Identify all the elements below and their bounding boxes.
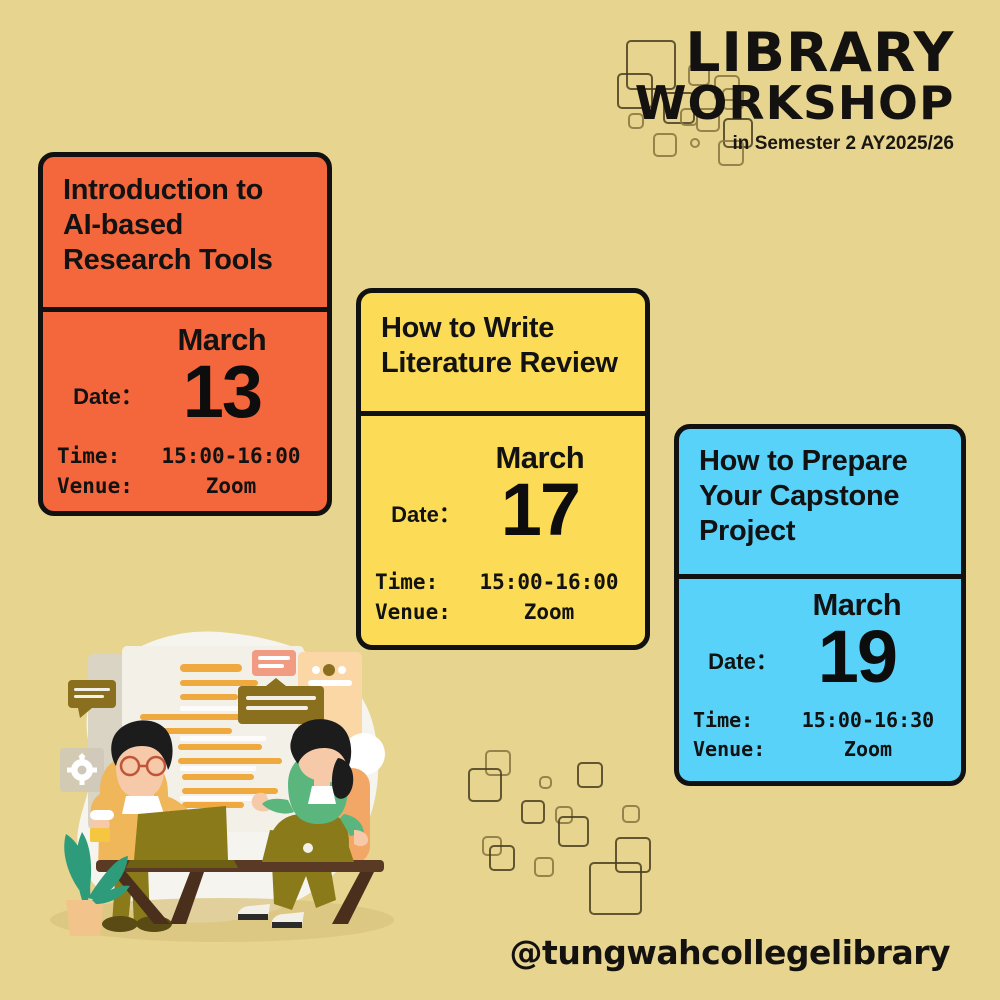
workshop-details: Date： March 13 Time: 15:00-16:00 Venue: … [43, 312, 327, 512]
collaboration-illustration [30, 618, 410, 958]
decor-square [489, 845, 515, 871]
brand-title-line1: LIBRARY [634, 28, 954, 78]
workshop-details: Date： March 17 Time: 15:00-16:00 Venue: … [361, 416, 645, 645]
workshop-details: Date： March 19 Time: 15:00-16:30 Venue: … [679, 579, 961, 781]
time-label: Time: [693, 706, 789, 735]
time-value: 15:00-16:30 [789, 706, 947, 735]
poster-canvas: LIBRARY WORKSHOP in Semester 2 AY2025/26… [0, 0, 1000, 1000]
workshop-title: Introduction to AI-based Research Tools [43, 157, 327, 312]
day-value: 13 [147, 357, 297, 427]
social-handle: @tungwahcollegelibrary [510, 933, 950, 972]
date-value: March 19 [782, 589, 932, 692]
decor-square [521, 800, 545, 824]
date-row: Date： March 19 [693, 589, 947, 692]
venue-value: Zoom [467, 597, 631, 627]
date-row: Date： March 13 [57, 324, 313, 427]
venue-label: Venue: [693, 735, 789, 764]
decor-square [539, 776, 552, 789]
time-label: Time: [57, 441, 149, 471]
decor-square [534, 857, 554, 877]
decor-square [622, 805, 640, 823]
brand-title-line2: WORKSHOP [634, 82, 954, 124]
time-value: 15:00-16:00 [467, 567, 631, 597]
date-label: Date： [391, 497, 465, 545]
decor-square [558, 816, 589, 847]
workshop-card-2[interactable]: How to Write Literature Review Date： Mar… [356, 288, 650, 650]
venue-row: Venue: Zoom [57, 471, 313, 501]
workshop-card-1[interactable]: Introduction to AI-based Research Tools … [38, 152, 332, 516]
meta-block: Time: 15:00-16:00 Venue: Zoom [375, 567, 631, 628]
date-label: Date： [73, 379, 147, 427]
date-row: Date： March 17 [375, 442, 631, 545]
workshop-title: How to Write Literature Review [361, 293, 645, 416]
venue-value: Zoom [149, 471, 313, 501]
meta-block: Time: 15:00-16:00 Venue: Zoom [57, 441, 313, 502]
time-row: Time: 15:00-16:00 [375, 567, 631, 597]
decor-square [468, 768, 502, 802]
workshop-card-3[interactable]: How to Prepare Your Capstone Project Dat… [674, 424, 966, 786]
day-value: 19 [782, 622, 932, 692]
time-row: Time: 15:00-16:00 [57, 441, 313, 471]
date-value: March 17 [465, 442, 615, 545]
day-value: 17 [465, 475, 615, 545]
meta-block: Time: 15:00-16:30 Venue: Zoom [693, 706, 947, 764]
venue-row: Venue: Zoom [693, 735, 947, 764]
decor-square [589, 862, 642, 915]
brand-subtitle: in Semester 2 AY2025/26 [641, 133, 954, 155]
time-row: Time: 15:00-16:30 [693, 706, 947, 735]
venue-row: Venue: Zoom [375, 597, 631, 627]
time-value: 15:00-16:00 [149, 441, 313, 471]
date-label: Date： [708, 644, 782, 692]
time-label: Time: [375, 567, 467, 597]
date-value: March 13 [147, 324, 297, 427]
workshop-title: How to Prepare Your Capstone Project [679, 429, 961, 579]
venue-label: Venue: [57, 471, 149, 501]
decor-square [577, 762, 603, 788]
venue-value: Zoom [789, 735, 947, 764]
poster-header: LIBRARY WORKSHOP in Semester 2 AY2025/26 [641, 28, 954, 155]
illustration-svg [30, 618, 410, 958]
